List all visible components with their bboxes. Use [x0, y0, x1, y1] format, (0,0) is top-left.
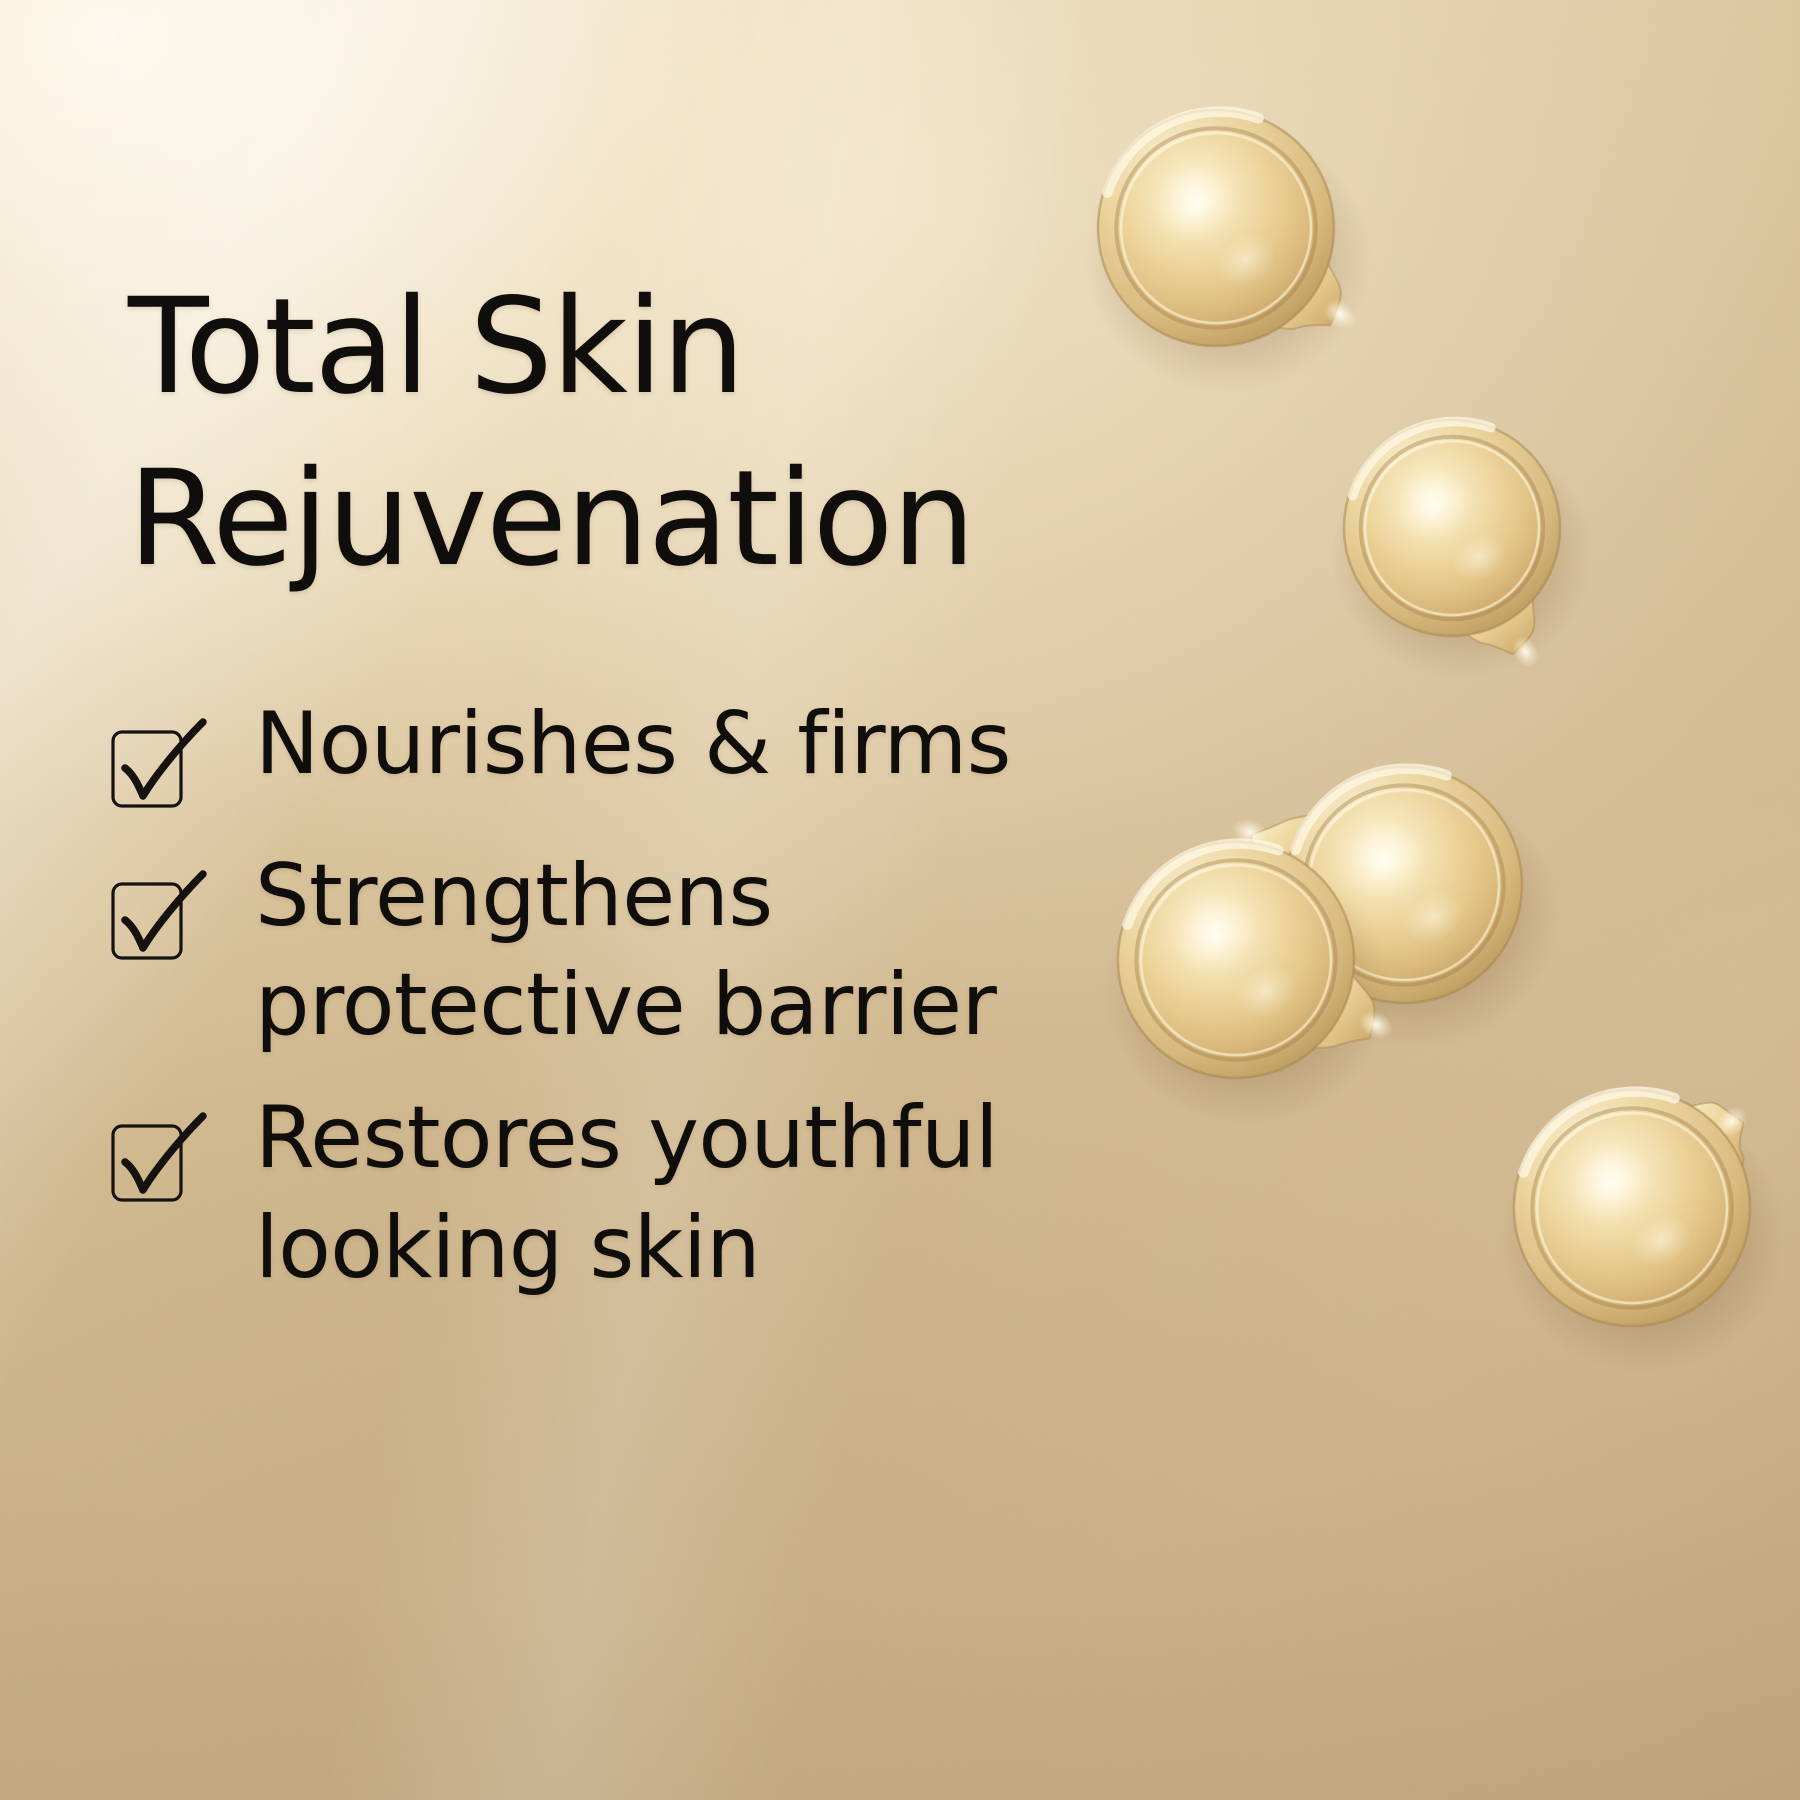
list-item-label: Restores youthful looking skin [255, 1084, 998, 1302]
headline-block: Total Skin Rejuvenation [128, 262, 1218, 605]
list-item: Strengthens protective barrier [105, 842, 1165, 1060]
benefits-checklist: Nourishes & firms Strengthens protective… [105, 690, 1165, 1303]
list-item: Nourishes & firms [105, 690, 1165, 818]
page-title: Total Skin Rejuvenation [128, 262, 1218, 605]
checked-checkbox-icon [105, 714, 255, 818]
promo-banner: Total Skin Rejuvenation Nourishes & firm… [0, 0, 1800, 1800]
checked-checkbox-icon [105, 866, 255, 970]
checked-checkbox-icon [105, 1108, 255, 1212]
list-item-label: Strengthens protective barrier [255, 842, 996, 1060]
list-item: Restores youthful looking skin [105, 1084, 1165, 1302]
list-item-label: Nourishes & firms [255, 690, 1011, 799]
